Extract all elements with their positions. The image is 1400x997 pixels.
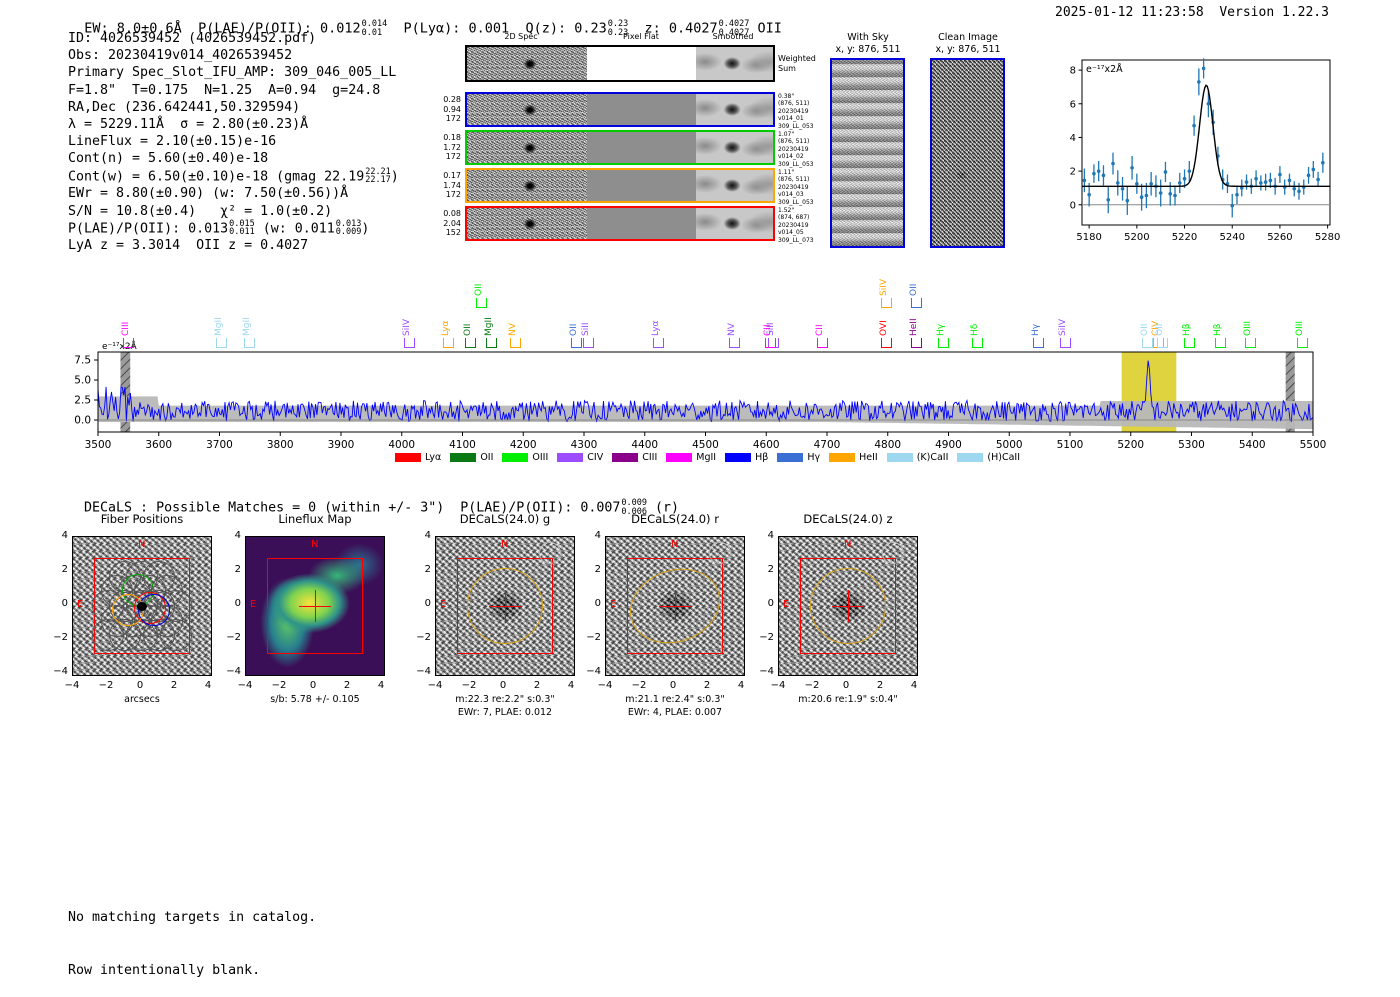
spec2d-left-value: 0.08: [413, 209, 461, 219]
compass-n-2: N: [501, 539, 508, 550]
info-lineflux: LineFlux = 2.10(±0.15)e-16: [68, 133, 399, 150]
legend-item-Hβ: Hβ: [725, 452, 768, 463]
spectrum-line-label-CII-15: CII: [816, 302, 825, 336]
cutout-xtick-3-4: 4: [731, 680, 751, 691]
svg-text:5200: 5200: [1124, 232, 1149, 243]
spec2d-left-value: 1.74: [413, 181, 461, 191]
spectrum-line-label-OII-5: OII: [464, 302, 473, 336]
weighted-sum-label: WeightedSum: [778, 54, 816, 73]
spec2d-cell-pixelflat: [587, 132, 696, 163]
sky-clean-thumbnails: With Skyx, y: 876, 511Clean Imagex, y: 8…: [820, 32, 1025, 257]
cutout-xtick-3-1: −2: [629, 680, 649, 691]
legend-label-(K)CaII: (K)CaII: [917, 452, 949, 463]
thumbnail-title-text: Clean Image: [908, 32, 1028, 44]
spec2d-cell-smoothed: [696, 47, 773, 80]
cutout-xtick-4-3: 2: [870, 680, 890, 691]
spectrum-line-label-Hγ-22: Hγ: [1032, 302, 1041, 336]
spectrum-line-bracket: [765, 338, 776, 348]
spectrum-line-label-Lyα-11: Lyα: [652, 302, 661, 336]
emission-blob: [523, 142, 536, 153]
info-ewr: EWr = 8.80(±0.90) (w: 7.50(±0.56))Å: [68, 185, 399, 202]
info-seeing: F=1.8" T=0.175 N=1.25 A=0.94 g=24.8: [68, 82, 399, 99]
cutout-xtick-4-2: 0: [836, 680, 856, 691]
spectrum-line-bracket: [1184, 338, 1195, 348]
spectrum-line-label-Hβ-27: Hβ: [1183, 302, 1192, 336]
cutout-ytick-3-1: 2: [585, 564, 601, 575]
legend-label-Hγ: Hγ: [807, 452, 820, 463]
cutout-xtick-2-2: 0: [493, 680, 513, 691]
svg-text:3900: 3900: [328, 439, 355, 451]
legend-label-OII: OII: [480, 452, 493, 463]
cutout-xtick-1-3: 2: [337, 680, 357, 691]
legend-item-OIII: OIII: [502, 452, 548, 463]
spectrum-line-label-CIII-0: CIII: [122, 302, 131, 336]
svg-text:5.0: 5.0: [74, 375, 91, 387]
compass-e-4: E: [783, 599, 789, 610]
spec2d-cell-pixelflat: [587, 170, 696, 201]
compass-e-1: E: [250, 599, 256, 610]
cutout-panels: Fiber PositionsNE−4−2024420−2−4arcsecsLi…: [60, 508, 1060, 733]
svg-text:4300: 4300: [571, 439, 598, 451]
cutout-ytick-0-3: −2: [52, 632, 68, 643]
cutout-ytick-4-4: −4: [758, 666, 774, 677]
svg-text:5200: 5200: [1117, 439, 1144, 451]
cutout-xtick-4-0: −4: [768, 680, 788, 691]
spectrum-line-bracket: [244, 338, 255, 348]
cutout-xtick-0-1: −2: [96, 680, 116, 691]
footer-line-1: No matching targets in catalog.: [68, 909, 316, 927]
legend-item-MgII: MgII: [666, 452, 716, 463]
cutout-ytick-1-4: −4: [225, 666, 241, 677]
svg-text:3500: 3500: [85, 439, 112, 451]
spectrum-line-bracket: [881, 338, 892, 348]
legend-swatch-Hγ: [777, 453, 803, 462]
svg-text:8: 8: [1070, 66, 1076, 77]
spectrum-line-label-Hγ-20: Hγ: [937, 302, 946, 336]
cutout-xtick-1-4: 4: [371, 680, 391, 691]
legend-item-Lyα: Lyα: [395, 452, 441, 463]
svg-text:6: 6: [1070, 99, 1076, 110]
spec2d-cell-smoothed: [696, 132, 773, 163]
spectrum-line-bracket: [1033, 338, 1044, 348]
spec2d-left-value: 152: [413, 228, 461, 238]
cutout-ytick-0-2: 0: [52, 598, 68, 609]
emission-blob: [523, 58, 536, 69]
legend-item-CIV: CIV: [557, 452, 603, 463]
svg-text:3700: 3700: [206, 439, 233, 451]
legend-swatch-(H)CaII: [957, 453, 983, 462]
svg-text:2.5: 2.5: [74, 395, 91, 407]
faint-source-circle-2: [539, 542, 561, 564]
svg-text:4400: 4400: [631, 439, 658, 451]
spec2d-row: [465, 206, 775, 241]
cutout-ytick-4-0: 4: [758, 530, 774, 541]
legend-label-MgII: MgII: [696, 452, 716, 463]
legend-item-CIII: CIII: [612, 452, 657, 463]
info-radec: RA,Dec (236.642441,50.329594): [68, 99, 399, 116]
thumbnail-clean-image: [930, 58, 1005, 248]
svg-text:3600: 3600: [145, 439, 172, 451]
legend-label-HeII: HeII: [859, 452, 878, 463]
cutout-xtick-0-0: −4: [62, 680, 82, 691]
cutout-ytick-0-1: 2: [52, 564, 68, 575]
emission-blob: [523, 218, 536, 229]
cutout-caption1-4: m:20.6 re:1.9" s:0.4": [733, 694, 963, 707]
cutout-ytick-2-2: 0: [415, 598, 431, 609]
spec2d-row: [465, 130, 775, 165]
cutout-ytick-0-4: −4: [52, 666, 68, 677]
cutout-xtick-0-3: 2: [164, 680, 184, 691]
spectrum-line-bracket: [1142, 338, 1153, 348]
spectrum-line-label-OII-9: OII: [570, 302, 579, 336]
legend-swatch-CIV: [557, 453, 583, 462]
spectrum-line-label-SiIV-23: SiIV: [1059, 302, 1068, 336]
info-plae: P(LAE)/P(OII): 0.0130.0150.011 (w: 0.011…: [68, 220, 399, 238]
spectrum-line-bracket: [911, 338, 922, 348]
legend-swatch-OIII: [502, 453, 528, 462]
spectrum-line-bracket: [465, 338, 476, 348]
legend-swatch-CIII: [612, 453, 638, 462]
spec2d-cell-2dspec: [467, 47, 587, 80]
info-wavelength: λ = 5229.11Å σ = 2.80(±0.23)Å: [68, 116, 399, 133]
spec2d-panel: 2D SpecPixel FlatSmoothedWeightedSum0.28…: [425, 32, 765, 257]
svg-text:e⁻¹⁷x2Å: e⁻¹⁷x2Å: [1086, 63, 1123, 75]
cutout-ytick-2-3: −2: [415, 632, 431, 643]
source-info-block: ID: 4026539452 (4026539452.pdf) Obs: 202…: [68, 30, 399, 255]
legend-label-OIII: OIII: [532, 452, 548, 463]
thumbnail-subtitle-text: x, y: 876, 511: [908, 44, 1028, 56]
spectrum-line-label-CII-14: CII: [764, 302, 773, 336]
cutout-ytick-2-1: 2: [415, 564, 431, 575]
legend-item-HeII: HeII: [829, 452, 878, 463]
legend-item-Hγ: Hγ: [777, 452, 820, 463]
spectrum-line-bracket: [817, 338, 828, 348]
cutout-ytick-2-4: −4: [415, 666, 431, 677]
spec2d-cell-2dspec: [467, 170, 587, 201]
cutout-ytick-0-0: 4: [52, 530, 68, 541]
spectrum-line-label-NV-8: NV: [509, 302, 518, 336]
spec2d-left-value: 172: [413, 114, 461, 124]
faint-source-circle-4: [882, 542, 904, 564]
footer-line-2: Row intentionally blank.: [68, 962, 316, 980]
compass-n-0: N: [138, 539, 145, 550]
spec2d-column-title-2: Smoothed: [703, 32, 763, 41]
svg-text:5240: 5240: [1220, 232, 1245, 243]
spec2d-row-left-values-2: 0.171.74172: [413, 171, 461, 200]
spectrum-line-label-Hβ-28: Hβ: [1214, 302, 1223, 336]
info-primary-slot: Primary Spec_Slot_IFU_AMP: 309_046_005_L…: [68, 64, 399, 81]
spec2d-cell-smoothed: [696, 208, 773, 239]
legend-label-Lyα: Lyα: [425, 452, 441, 463]
cutout-ytick-1-3: −2: [225, 632, 241, 643]
spec2d-left-value: 0.17: [413, 171, 461, 181]
thumbnail-with-sky: [830, 58, 905, 248]
svg-text:5220: 5220: [1172, 232, 1197, 243]
info-obs: Obs: 20230419v014_4026539452: [68, 47, 399, 64]
spec2d-column-title-1: Pixel Flat: [611, 32, 671, 41]
spec2d-cell-2dspec: [467, 132, 587, 163]
emission-line-zoom-chart: 51805200522052405260528002468e⁻¹⁷x2Å: [1030, 52, 1340, 257]
legend-label-Hβ: Hβ: [755, 452, 768, 463]
cutout-xtick-2-4: 4: [561, 680, 581, 691]
spectrum-line-bracket: [404, 338, 415, 348]
spec2d-left-value: 0.28: [413, 95, 461, 105]
spectrum-line-label-OIII-30: OIII: [1296, 302, 1305, 336]
cutout-ytick-1-0: 4: [225, 530, 241, 541]
spectrum-line-bracket: [1297, 338, 1308, 348]
cutout-ytick-2-0: 4: [415, 530, 431, 541]
spectrum-line-bracket: [486, 338, 497, 348]
legend-item-(K)CaII: (K)CaII: [887, 452, 949, 463]
cutout-xtick-4-1: −2: [802, 680, 822, 691]
spectrum-line-bracket: [1157, 338, 1168, 348]
spec2d-column-title-0: 2D Spec: [491, 32, 551, 41]
cutout-ytick-3-2: 0: [585, 598, 601, 609]
spec2d-left-value: 1.72: [413, 143, 461, 153]
fiber-circle: [160, 619, 192, 651]
crosshair-v-1: [315, 590, 316, 622]
svg-text:4800: 4800: [874, 439, 901, 451]
spec2d-left-value: 2.04: [413, 219, 461, 229]
cutout-title-1: Lineflux Map: [210, 512, 420, 526]
spec2d-row: [465, 92, 775, 127]
compass-e-2: E: [440, 599, 446, 610]
compass-n-1: N: [311, 539, 318, 550]
spectrum-line-bracket: [729, 338, 740, 348]
spectrum-line-label-MgII-1: MgII: [215, 302, 224, 336]
spectrum-line-bracket: [938, 338, 949, 348]
spectrum-line-bracket: [653, 338, 664, 348]
legend-item-OII: OII: [450, 452, 493, 463]
svg-text:4: 4: [1070, 133, 1076, 144]
spectrum-line-bracket: [571, 338, 582, 348]
spectrum-line-label-OIII-29: OIII: [1244, 302, 1253, 336]
cutout-ytick-3-4: −4: [585, 666, 601, 677]
spec2d-row: [465, 168, 775, 203]
spectrum-legend: LyαOIIOIIICIVCIIIMgIIHβHγHeII(K)CaII(H)C…: [395, 452, 1029, 463]
spectrum-line-bracket: [443, 338, 454, 348]
cutout-ytick-1-1: 2: [225, 564, 241, 575]
spectrum-line-label-SiII-10: SiII: [582, 302, 591, 336]
cutout-xtick-2-1: −2: [459, 680, 479, 691]
legend-swatch-Hβ: [725, 453, 751, 462]
cutout-xtick-0-4: 4: [198, 680, 218, 691]
info-cont-w: Cont(w) = 6.50(±0.10)e-18 (gmag 22.1922.…: [68, 168, 399, 186]
spec2d-left-value: 172: [413, 190, 461, 200]
spectrum-line-bracket: [1060, 338, 1071, 348]
svg-text:4200: 4200: [510, 439, 537, 451]
spectrum-line-label-SiIV-16: SiIV: [880, 262, 889, 296]
svg-text:5260: 5260: [1267, 232, 1292, 243]
svg-text:7.5: 7.5: [74, 355, 91, 367]
svg-text:5500: 5500: [1300, 439, 1327, 451]
legend-swatch-Lyα: [395, 453, 421, 462]
info-cont-n: Cont(n) = 5.60(±0.40)e-18: [68, 150, 399, 167]
spectrum-line-label-OII-17: OII: [910, 262, 919, 296]
cutout-xtick-1-2: 0: [303, 680, 323, 691]
legend-swatch-MgII: [666, 453, 692, 462]
spectrum-line-bracket: [216, 338, 227, 348]
spec2d-cell-smoothed: [696, 170, 773, 201]
spectrum-line-bracket: [1245, 338, 1256, 348]
compass-n-3: N: [671, 539, 678, 550]
spectrum-line-bracket: [123, 338, 134, 348]
ellipse-aperture-2: [467, 568, 543, 644]
spectrum-line-label-OII-24: OII: [1141, 302, 1150, 336]
compass-e-3: E: [610, 599, 616, 610]
spec2d-cell-pixelflat: [587, 47, 696, 80]
spectrum-line-label-OVI-18: OVI: [880, 302, 889, 336]
svg-text:4900: 4900: [935, 439, 962, 451]
spec2d-cell-2dspec: [467, 94, 587, 125]
legend-swatch-HeII: [829, 453, 855, 462]
cutout-ytick-4-3: −2: [758, 632, 774, 643]
svg-text:4100: 4100: [449, 439, 476, 451]
footer-note: No matching targets in catalog. Row inte…: [68, 874, 316, 997]
cutout-xtick-1-1: −2: [269, 680, 289, 691]
emission-blob: [523, 180, 536, 191]
spec2d-row-left-values-0: 0.280.94172: [413, 95, 461, 124]
cutout-ytick-3-0: 4: [585, 530, 601, 541]
spectrum-line-label-SiIV-3: SiIV: [403, 302, 412, 336]
compass-e-0: E: [77, 599, 83, 610]
cutout-xtick-4-4: 4: [904, 680, 924, 691]
cutout-xtick-2-3: 2: [527, 680, 547, 691]
spec2d-left-value: 172: [413, 152, 461, 162]
cutout-xtick-3-3: 2: [697, 680, 717, 691]
cutout-title-4: DECaLS(24.0) z: [743, 512, 953, 526]
spectrum-line-label-NV-12: NV: [728, 302, 737, 336]
cutout-caption2-3: EWr: 4, PLAE: 0.007: [560, 707, 790, 720]
source-marker: [137, 602, 147, 611]
spectrum-line-label-Hδ-21: Hδ: [971, 302, 980, 336]
spectrum-line-label-OII-6: OII: [475, 262, 484, 296]
legend-label-(H)CaII: (H)CaII: [987, 452, 1020, 463]
spec2d-cell-pixelflat: [587, 208, 696, 239]
spec2d-row-left-values-3: 0.082.04152: [413, 209, 461, 238]
emission-blob: [523, 104, 536, 115]
svg-text:5300: 5300: [1178, 439, 1205, 451]
spec2d-cell-pixelflat: [587, 94, 696, 125]
spectrum-line-label-OII-26: OII: [1156, 302, 1165, 336]
spectrum-line-bracket: [972, 338, 983, 348]
spectrum-line-label-MgII-7: MgII: [485, 302, 494, 336]
thumbnail-title-clean-image: Clean Imagex, y: 876, 511: [908, 32, 1028, 56]
svg-text:5000: 5000: [996, 439, 1023, 451]
compass-n-4: N: [844, 539, 851, 550]
svg-text:2: 2: [1070, 167, 1076, 178]
cutout-xtick-1-0: −4: [235, 680, 255, 691]
cutout-ytick-1-2: 0: [225, 598, 241, 609]
ellipse-aperture-4: [810, 568, 886, 644]
cutout-xtick-3-2: 0: [663, 680, 683, 691]
spectrum-line-label-MgII-2: MgII: [243, 302, 252, 336]
timestamp-version: 2025-01-12 11:23:58 Version 1.22.3: [1055, 5, 1329, 20]
spec2d-row: [465, 45, 775, 82]
cutout-ytick-4-2: 0: [758, 598, 774, 609]
spectrum-line-bracket: [510, 338, 521, 348]
svg-text:4600: 4600: [753, 439, 780, 451]
legend-swatch-OII: [450, 453, 476, 462]
svg-text:5400: 5400: [1239, 439, 1266, 451]
spec2d-cell-smoothed: [696, 94, 773, 125]
svg-text:5180: 5180: [1076, 232, 1101, 243]
cutout-xtick-2-0: −4: [425, 680, 445, 691]
legend-label-CIV: CIV: [587, 452, 603, 463]
legend-item-(H)CaII: (H)CaII: [957, 452, 1020, 463]
spectrum-line-label-Lyα-4: Lyα: [442, 302, 451, 336]
cutout-ytick-3-3: −2: [585, 632, 601, 643]
spectrum-line-bracket: [1215, 338, 1226, 348]
spectrum-line-label-HeII-19: HeII: [910, 302, 919, 336]
faint-source-circle-3: [709, 542, 731, 564]
spec2d-row-left-values-1: 0.181.72172: [413, 133, 461, 162]
svg-text:4000: 4000: [388, 439, 415, 451]
legend-label-CIII: CIII: [642, 452, 657, 463]
cutout-xtick-0-2: 0: [130, 680, 150, 691]
spec2d-cell-2dspec: [467, 208, 587, 239]
svg-text:3800: 3800: [267, 439, 294, 451]
info-id: ID: 4026539452 (4026539452.pdf): [68, 30, 399, 47]
svg-text:5280: 5280: [1315, 232, 1340, 243]
svg-text:0: 0: [1070, 200, 1076, 211]
spec2d-left-value: 0.94: [413, 105, 461, 115]
svg-text:0.0: 0.0: [74, 415, 91, 427]
full-spectrum-chart: e⁻¹⁷x2Å350036003700380039004000410042004…: [60, 276, 1340, 476]
svg-text:4500: 4500: [692, 439, 719, 451]
svg-text:5100: 5100: [1057, 439, 1084, 451]
legend-swatch-(K)CaII: [887, 453, 913, 462]
spec2d-left-value: 0.18: [413, 133, 461, 143]
weighted-sum-l2: Sum: [778, 64, 816, 74]
spectrum-line-bracket: [583, 338, 594, 348]
info-sn-chi2: S/N = 10.8(±0.4) χ² = 1.0(±0.2): [68, 203, 399, 220]
cutout-xtick-3-0: −4: [595, 680, 615, 691]
cutout-ytick-4-1: 2: [758, 564, 774, 575]
svg-text:4700: 4700: [814, 439, 841, 451]
info-redshifts: LyA z = 3.3014 OII z = 0.4027: [68, 237, 399, 254]
